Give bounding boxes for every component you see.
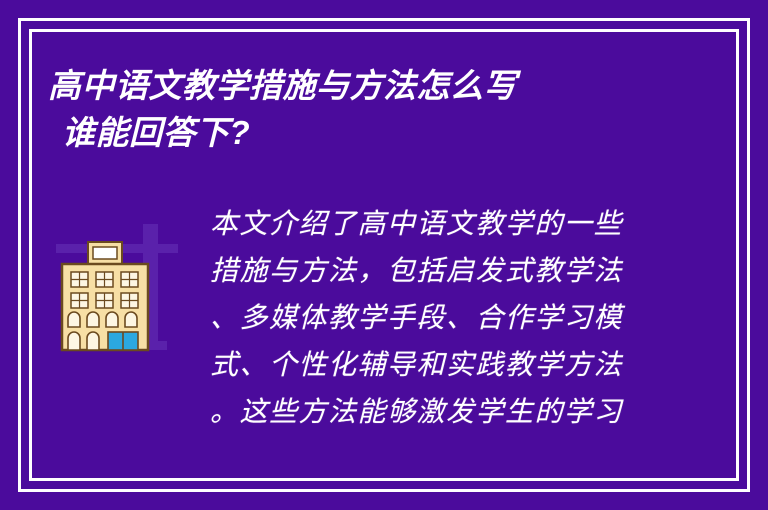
content-row: 本文介绍了高中语文教学的一些 措施与方法，包括启发式教学法 、多媒体教学手段、合… bbox=[48, 200, 720, 435]
body-line: 式、个性化辅导和实践教学方法 bbox=[210, 341, 720, 388]
school-building-illustration bbox=[48, 210, 198, 360]
body-line: 、多媒体教学手段、合作学习模 bbox=[210, 294, 720, 341]
school-building-icon bbox=[48, 210, 198, 360]
entrance-doors bbox=[108, 332, 138, 350]
body-line: 本文介绍了高中语文教学的一些 bbox=[210, 200, 720, 247]
body-line: 措施与方法，包括启发式教学法 bbox=[210, 247, 720, 294]
building-body bbox=[62, 242, 148, 350]
poster-canvas: 高中语文教学措施与方法怎么写 谁能回答下? bbox=[0, 0, 768, 510]
body-line: 。这些方法能够激发学生的学习 bbox=[210, 388, 720, 435]
page-title: 高中语文教学措施与方法怎么写 谁能回答下? bbox=[48, 62, 668, 156]
title-line-2: 谁能回答下? bbox=[48, 109, 668, 156]
title-line-1: 高中语文教学措施与方法怎么写 bbox=[48, 62, 668, 109]
body-paragraph: 本文介绍了高中语文教学的一些 措施与方法，包括启发式教学法 、多媒体教学手段、合… bbox=[210, 200, 720, 435]
